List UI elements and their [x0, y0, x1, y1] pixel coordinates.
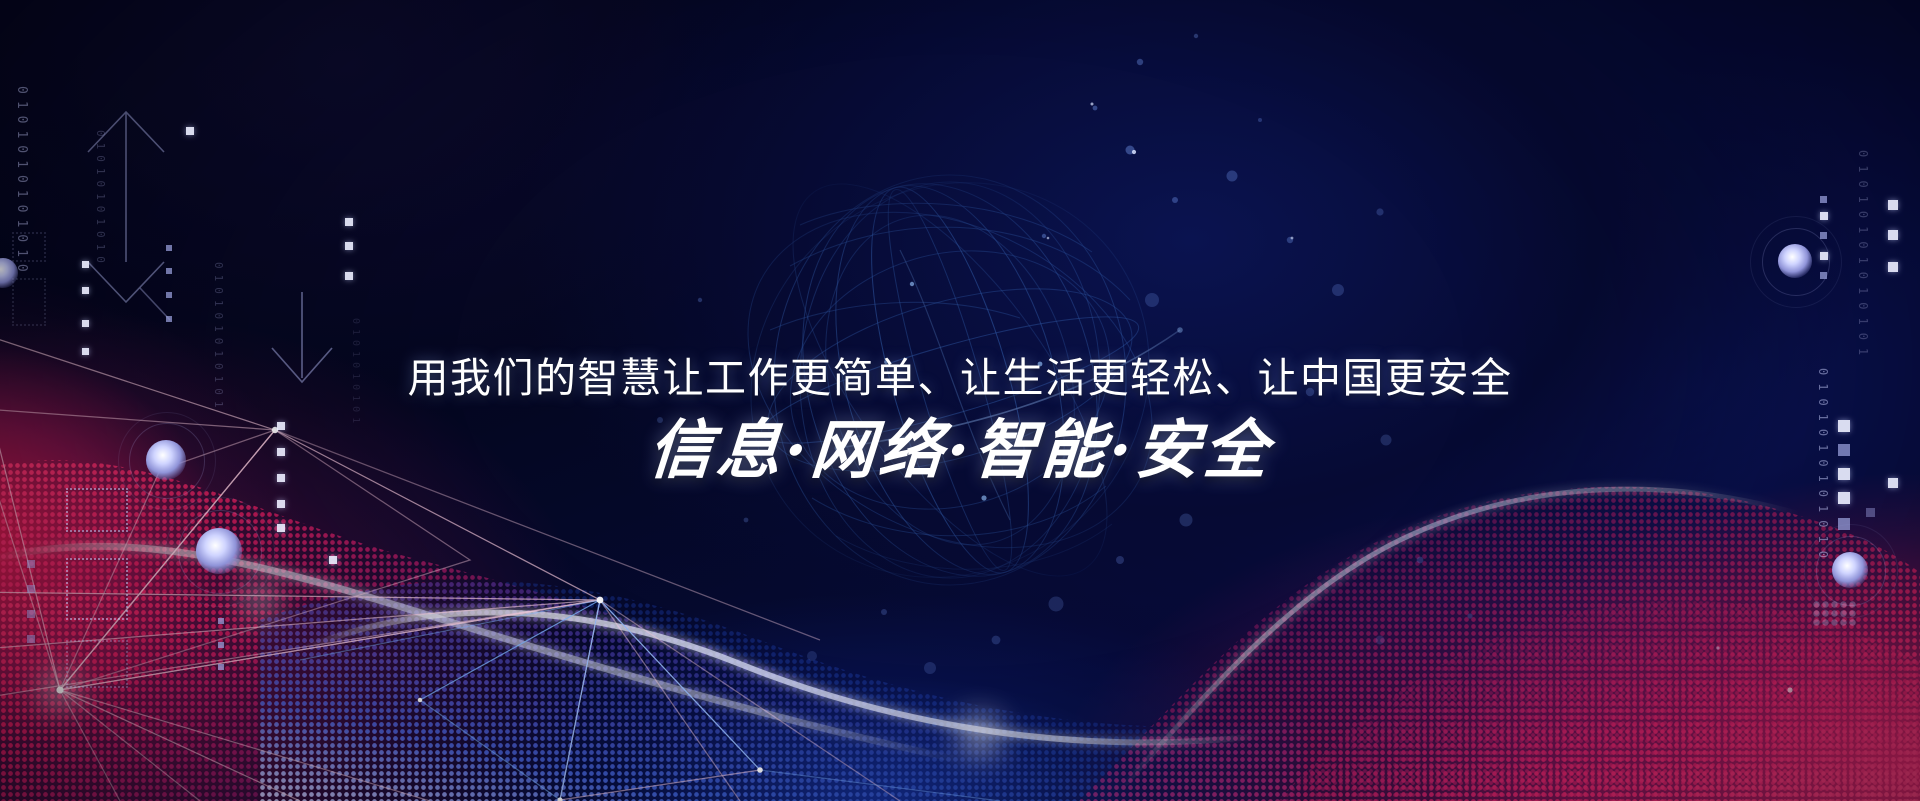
tech-square-marker — [166, 292, 172, 298]
tech-square-marker — [166, 245, 172, 251]
tech-square-marker — [1820, 196, 1827, 203]
tech-square-marker — [27, 635, 35, 643]
tech-square-marker — [82, 287, 89, 294]
tech-square-marker — [218, 618, 224, 624]
tech-square-marker — [345, 272, 353, 280]
page-title: 用我们的智慧让工作更简单、让生活更轻松、让中国更安全 — [0, 352, 1920, 404]
tech-square-marker — [345, 218, 353, 226]
tech-dotted-box — [12, 232, 46, 262]
tech-square-marker — [82, 320, 89, 327]
tech-glow-dot — [1778, 244, 1812, 278]
tech-square-marker — [218, 642, 224, 648]
tech-square-marker — [166, 316, 172, 322]
tech-square-marker — [1888, 262, 1898, 272]
tech-dot-grid — [1812, 600, 1858, 628]
halftone-wave-magenta-right — [1060, 440, 1920, 801]
binary-string-left-mid: 01010101010 — [94, 130, 107, 269]
tech-dotted-box — [66, 488, 128, 532]
tech-glow-dot — [1832, 552, 1868, 588]
tech-square-marker — [277, 524, 285, 532]
tech-square-marker — [1866, 508, 1875, 517]
tech-square-marker — [329, 556, 337, 564]
page-subtitle: 信息·网络·智能·安全 — [0, 414, 1920, 488]
tech-square-marker — [166, 268, 172, 274]
tech-square-marker — [1838, 492, 1850, 504]
headline-block: 用我们的智慧让工作更简单、让生活更轻松、让中国更安全 信息·网络·智能·安全 — [0, 352, 1920, 488]
tech-square-marker — [27, 610, 35, 618]
tech-square-marker — [1820, 212, 1828, 220]
tech-square-marker — [218, 664, 224, 670]
tech-glow-dot — [196, 528, 242, 574]
binary-string-right-upper: 01010101010101 — [1856, 150, 1870, 363]
tech-square-marker — [1888, 230, 1898, 240]
tech-dotted-box — [12, 278, 46, 326]
tech-square-marker — [1888, 200, 1898, 210]
tech-square-marker — [27, 585, 35, 593]
tech-square-marker — [277, 500, 285, 508]
tech-square-marker — [82, 261, 89, 268]
hero-banner: 0101010101010 01010101010 010101010101 0… — [0, 0, 1920, 801]
tech-dotted-box — [66, 558, 128, 620]
tech-square-marker — [186, 127, 194, 135]
tech-dotted-box — [66, 640, 128, 688]
tech-square-marker — [345, 242, 353, 250]
tech-square-marker — [27, 560, 35, 568]
